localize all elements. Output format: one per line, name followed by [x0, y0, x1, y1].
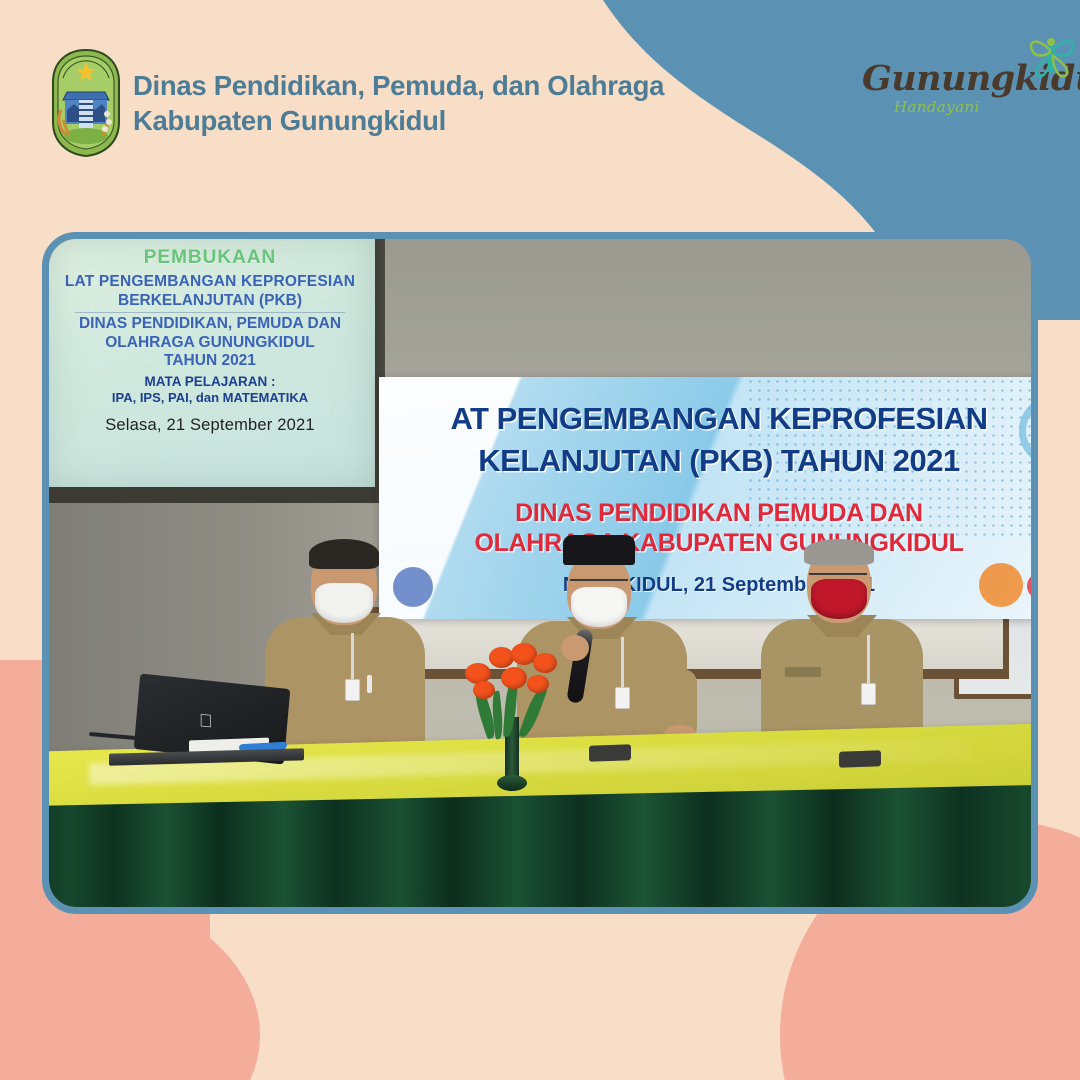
flower-7 — [527, 675, 549, 693]
mobile-phone-center — [589, 744, 631, 761]
mobile-phone-right — [839, 750, 881, 767]
person-left-face-mask — [315, 583, 373, 623]
slide-date: Selasa, 21 September 2021 — [53, 416, 367, 435]
poster-footer: @dikpora_gk pendidikan.gunungkidulkab.go… — [0, 940, 1080, 1070]
person-center-glasses — [570, 579, 628, 583]
slide-divider — [75, 312, 345, 313]
banner-line-1: AT PENGEMBANGAN KEPROFESIAN — [379, 401, 1031, 437]
event-photo-card: PEMBUKAAN LAT PENGEMBANGAN KEPROFESIAN B… — [42, 232, 1038, 914]
banner-line-2: KELANJUTAN (PKB) TAHUN 2021 — [379, 443, 1031, 479]
banner-line-5: NUNGKIDUL, 21 September 2021 — [379, 574, 1031, 597]
slide-line-3: DINAS PENDIDIKAN, PEMUDA DAN — [53, 315, 367, 334]
slide-heading: PEMBUKAAN — [53, 247, 367, 269]
gunungkidul-brand-logo: Gunungkidul Handayani — [862, 30, 1072, 120]
person-right-name-plate — [785, 667, 821, 677]
person-right-glasses — [809, 573, 867, 577]
projector-screen: PEMBUKAAN LAT PENGEMBANGAN KEPROFESIAN B… — [49, 239, 375, 490]
slide-line-4: OLAHRAGA GUNUNGKIDUL — [53, 334, 367, 353]
projector-screen-frame — [49, 487, 375, 503]
presentation-slide: PEMBUKAAN LAT PENGEMBANGAN KEPROFESIAN B… — [49, 239, 375, 485]
backdrop-banner: AT PENGEMBANGAN KEPROFESIAN KELANJUTAN (… — [379, 377, 1031, 619]
flower-5 — [501, 667, 527, 689]
vase-foot — [497, 775, 527, 791]
dragonfly-icon — [1020, 24, 1080, 86]
person-center-id-badge — [615, 687, 630, 709]
person-left-id-badge — [345, 679, 360, 701]
table-skirt — [49, 784, 1031, 907]
laptop-logo-icon:  — [199, 710, 217, 732]
page-title-line-1: Dinas Pendidikan, Pemuda, dan Olahraga — [133, 68, 733, 103]
page-title-line-2: Kabupaten Gunungkidul — [133, 103, 733, 138]
person-center-lanyard — [621, 637, 624, 689]
flower-4 — [533, 653, 557, 673]
poster-header: Dinas Pendidikan, Pemuda, dan Olahraga K… — [0, 0, 1080, 200]
person-right-hair — [804, 539, 874, 565]
slide-line-5: TAHUN 2021 — [53, 352, 367, 371]
person-center-face-mask — [571, 587, 627, 627]
flower-6 — [473, 681, 495, 699]
brand-tagline: Handayani — [894, 98, 980, 116]
banner-line-4: OLAHRAGA KABUPATEN GUNUNGKIDUL — [379, 529, 1031, 558]
slide-line-2: BERKELANJUTAN (PKB) — [53, 292, 367, 311]
slide-line-7: IPA, IPS, PAI, dan MATEMATIKA — [53, 390, 367, 406]
person-center-hand-holding-mic — [561, 635, 589, 661]
regency-crest-icon — [47, 48, 125, 158]
slide-line-6: MATA PELAJARAN : — [53, 373, 367, 390]
flower-2 — [489, 647, 514, 668]
person-left-pocket-pen — [367, 675, 372, 693]
header-title-block: Dinas Pendidikan, Pemuda, dan Olahraga K… — [133, 68, 733, 138]
person-left-hair — [309, 539, 379, 569]
person-right-lanyard — [867, 635, 870, 685]
poster-canvas: Dinas Pendidikan, Pemuda, dan Olahraga K… — [0, 0, 1080, 1080]
person-center-peci-cap — [563, 535, 635, 565]
person-left-lanyard — [351, 633, 354, 681]
event-photo: PEMBUKAAN LAT PENGEMBANGAN KEPROFESIAN B… — [49, 239, 1031, 907]
banner-line-3: DINAS PENDIDIKAN PEMUDA DAN — [379, 499, 1031, 528]
person-right-id-badge — [861, 683, 876, 705]
person-right-face-mask — [811, 579, 867, 619]
slide-line-1: LAT PENGEMBANGAN KEPROFESIAN — [53, 273, 367, 292]
